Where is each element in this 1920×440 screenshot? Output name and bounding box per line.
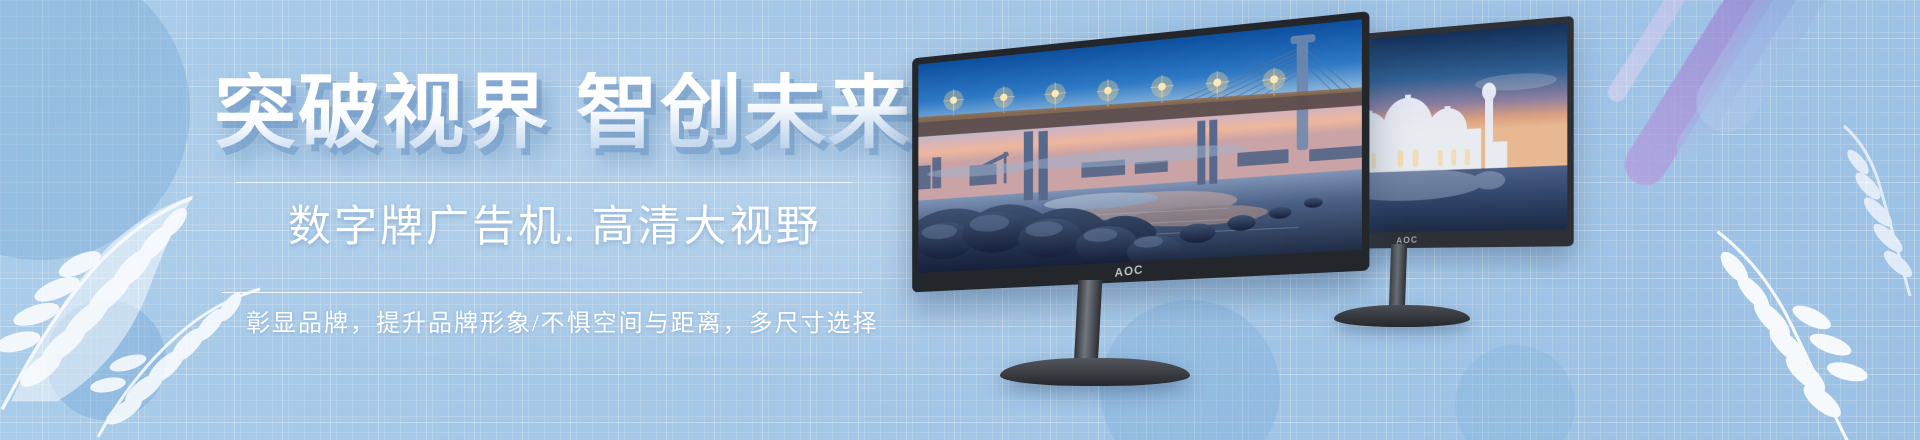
front-monitor-screen (918, 19, 1362, 273)
headline-part-1: 突破视界 (214, 67, 550, 158)
bridge-sunset-photo (918, 19, 1362, 273)
front-monitor: AOC (880, 30, 1400, 430)
front-monitor-logo: AOC (1115, 262, 1144, 280)
front-monitor-stand-base (1000, 358, 1190, 386)
banner-tagline: 彰显品牌，提升品牌形象/不惧空间与距离，多尺寸选择 (246, 303, 879, 338)
front-monitor-bezel: AOC (912, 11, 1369, 292)
front-monitor-stand-neck (1074, 280, 1103, 366)
promotional-banner: 突破视界智创未来 数字牌广告机. 高清大视野 彰显品牌，提升品牌形象/不惧空间与… (0, 0, 1920, 440)
divider-bottom (222, 292, 862, 293)
banner-headline: 突破视界智创未来 (214, 72, 912, 154)
divider-top (236, 182, 852, 183)
banner-subtitle: 数字牌广告机. 高清大视野 (288, 192, 822, 254)
headline-part-2: 智创未来 (576, 67, 912, 158)
text-content-block: 突破视界智创未来 数字牌广告机. 高清大视野 彰显品牌，提升品牌形象/不惧空间与… (0, 0, 900, 440)
product-monitors: AOC (880, 0, 1920, 440)
